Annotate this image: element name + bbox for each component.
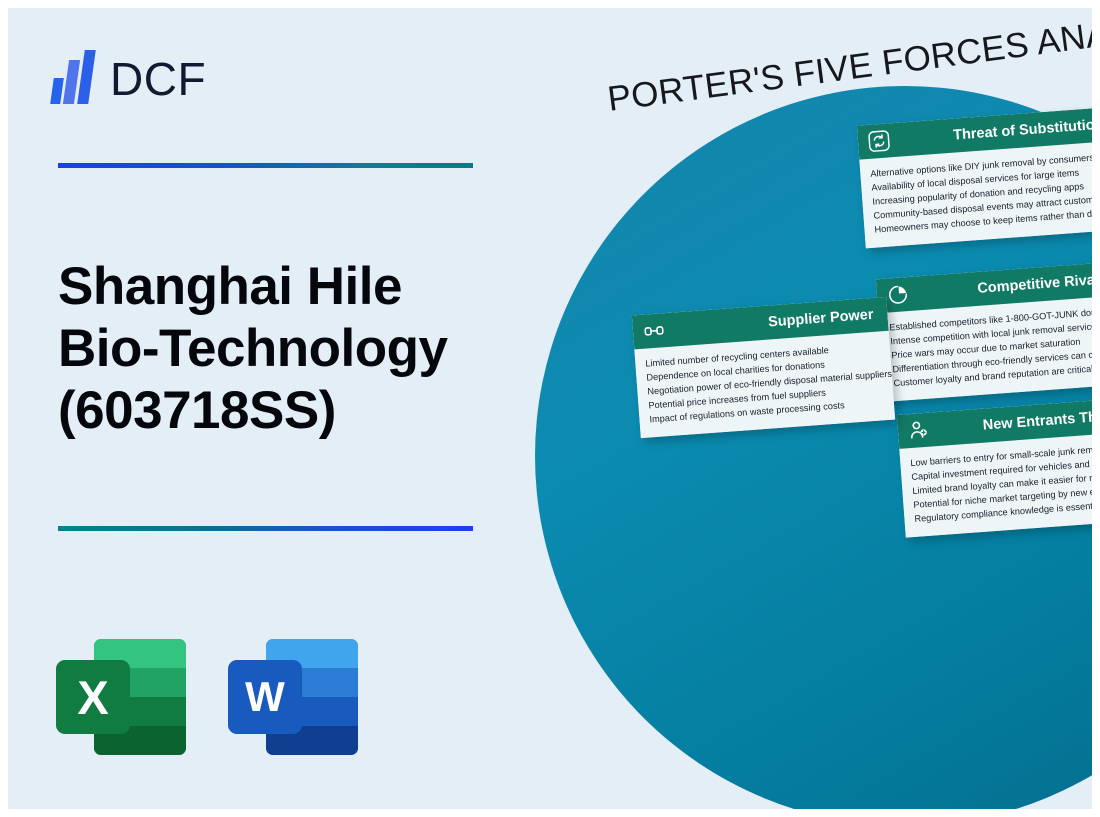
force-card-entrants[interactable]: New Entrants Threat Low barriers to entr… — [897, 397, 1092, 537]
user-add-icon — [907, 419, 931, 443]
page-title: Shanghai Hile Bio-Technology (603718SS) — [58, 256, 498, 442]
refresh-cycle-icon — [867, 129, 891, 153]
excel-badge-letter: X — [56, 660, 130, 734]
bar-chart-logo-icon — [50, 50, 98, 104]
divider-bottom — [58, 526, 473, 531]
pie-chart-icon — [886, 283, 910, 307]
excel-file-icon[interactable]: X — [56, 636, 186, 758]
card-title: Supplier Power — [768, 307, 874, 331]
force-card-supplier[interactable]: Supplier Power Limited number of recycli… — [632, 297, 895, 438]
download-icons: X W — [56, 636, 358, 758]
poster-canvas: DCF Shanghai Hile Bio-Technology (603718… — [8, 8, 1092, 809]
card-title: Competitive Rivalry — [977, 271, 1092, 297]
poster-page: DCF Shanghai Hile Bio-Technology (603718… — [0, 0, 1100, 817]
brand-logo[interactable]: DCF — [50, 44, 206, 104]
card-body: Low barriers to entry for small-scale ju… — [899, 431, 1092, 537]
card-title: Threat of Substitution — [953, 117, 1092, 144]
word-file-icon[interactable]: W — [228, 636, 358, 758]
link-dumbbell-icon — [642, 319, 666, 343]
divider-top — [58, 163, 473, 168]
card-body: Established competitors like 1-800-GOT-J… — [878, 295, 1092, 402]
brand-logo-text: DCF — [110, 56, 206, 104]
force-card-rivalry[interactable]: Competitive Rivalry Established competit… — [876, 261, 1092, 402]
card-title: New Entrants Threat — [982, 407, 1092, 433]
card-body: Limited number of recycling centers avai… — [634, 331, 895, 438]
force-card-substitution[interactable]: Threat of Substitution Alternative optio… — [857, 107, 1092, 249]
word-badge-letter: W — [228, 660, 302, 734]
